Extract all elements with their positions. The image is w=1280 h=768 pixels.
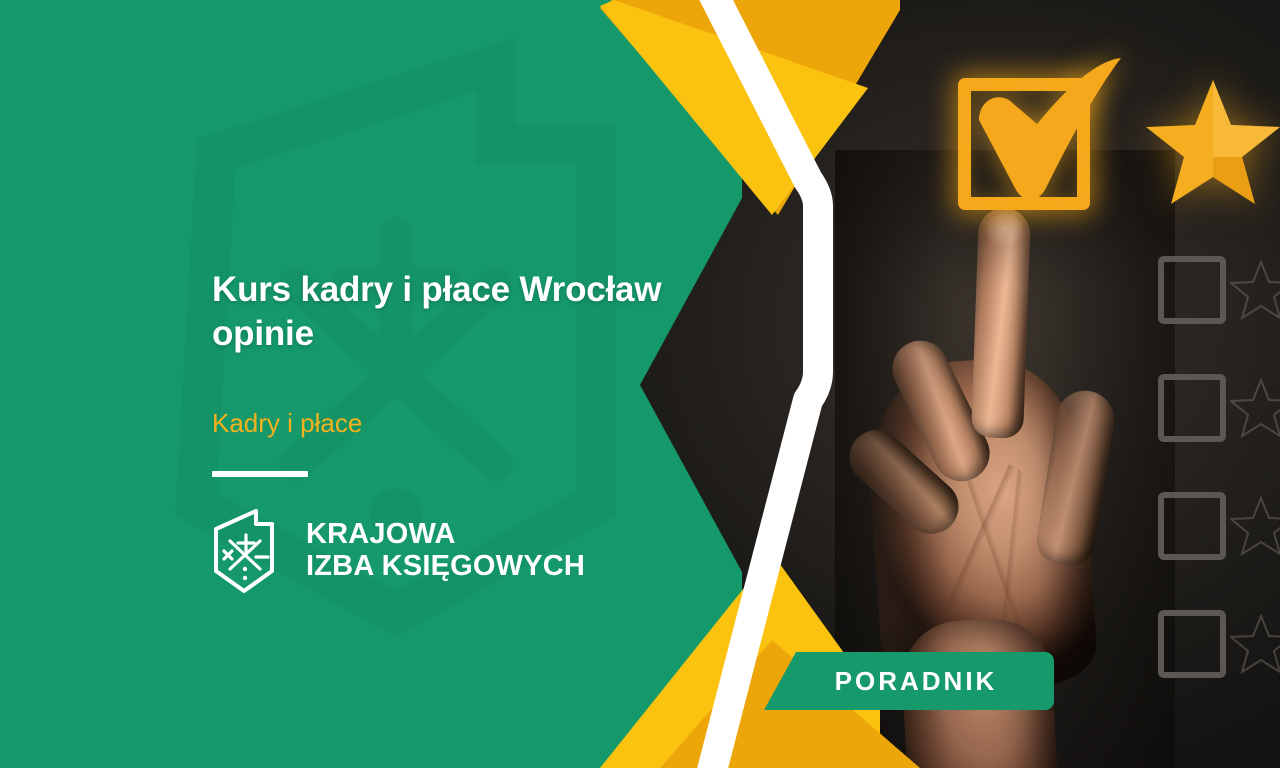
guide-badge-label: PORADNIK [821, 666, 998, 697]
hand-index-finger [971, 207, 1031, 439]
checkmark-icon [975, 58, 1125, 218]
outline-star-icon [1230, 260, 1280, 320]
option-row[interactable] [1158, 374, 1280, 452]
empty-checkbox-icon[interactable] [1158, 256, 1226, 324]
page-title: Kurs kadry i płace Wrocław opinie [212, 268, 772, 356]
horizontal-rule [212, 471, 308, 477]
option-row[interactable] [1158, 256, 1280, 334]
option-row[interactable] [1158, 492, 1280, 570]
brand-logo[interactable]: KRAJOWA IZBA KSIĘGOWYCH [212, 507, 772, 595]
article-hero-banner: Kurs kadry i płace Wrocław opinie Kadry … [0, 0, 1280, 768]
outline-star-icon [1230, 378, 1280, 438]
empty-checkbox-icon[interactable] [1158, 492, 1226, 560]
empty-checkbox-icon[interactable] [1158, 374, 1226, 442]
brand-line-2: IZBA KSIĘGOWYCH [306, 551, 585, 583]
outline-star-icon [1230, 496, 1280, 556]
guide-badge[interactable]: PORADNIK [764, 652, 1054, 710]
empty-checkbox-icon[interactable] [1158, 610, 1226, 678]
option-row[interactable] [1158, 610, 1280, 688]
category-label: Kadry i płace [212, 408, 772, 439]
brand-name: KRAJOWA IZBA KSIĘGOWYCH [306, 519, 585, 583]
hero-content: Kurs kadry i płace Wrocław opinie Kadry … [212, 268, 772, 595]
shield-calculator-icon [212, 507, 290, 595]
outline-star-icon [1230, 614, 1280, 674]
filled-star-icon [1146, 78, 1280, 206]
brand-line-1: KRAJOWA [306, 519, 585, 551]
